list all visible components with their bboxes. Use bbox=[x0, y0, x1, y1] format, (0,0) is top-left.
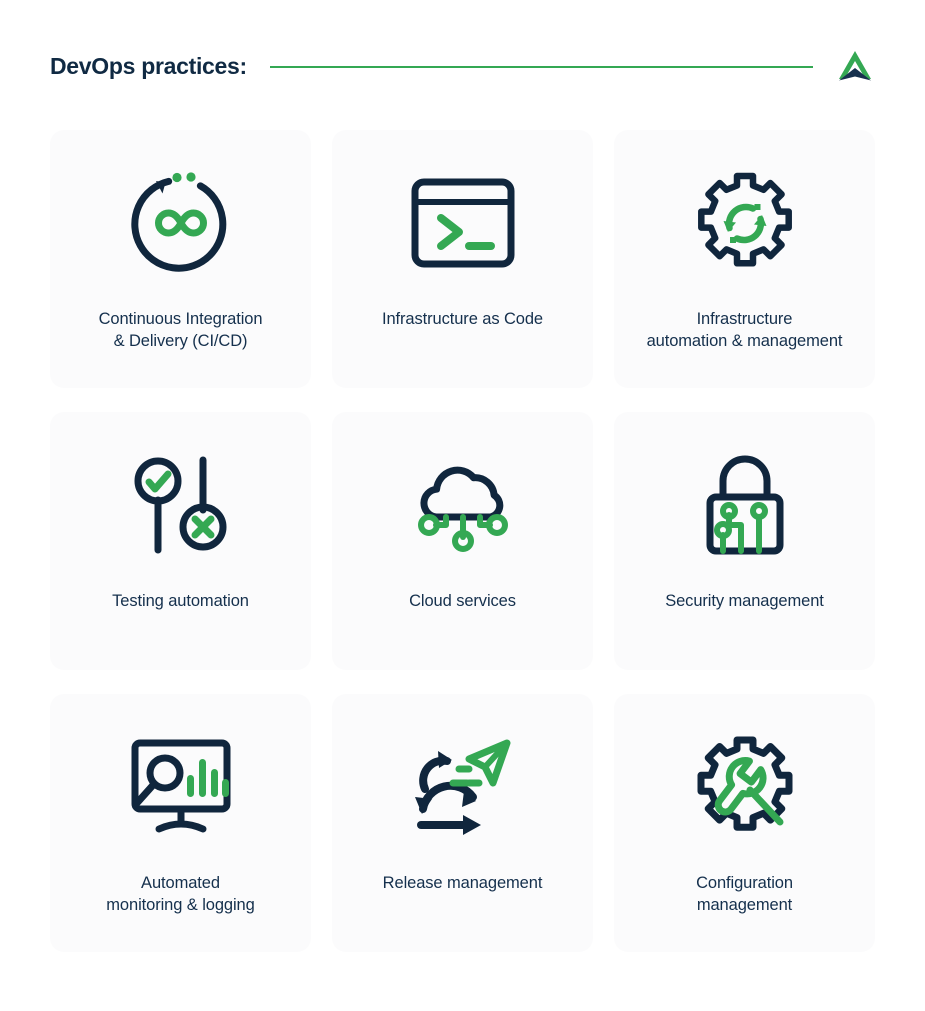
card-label: Infrastructure as Code bbox=[372, 308, 553, 330]
card-label: Release management bbox=[373, 872, 553, 894]
cloud-network-icon bbox=[332, 420, 593, 590]
card-label: Testing automation bbox=[102, 590, 259, 612]
card-label: Cloud services bbox=[399, 590, 526, 612]
card-testing-automation[interactable]: Testing automation bbox=[50, 412, 311, 670]
monitor-chart-magnifier-icon bbox=[50, 702, 311, 872]
terminal-window-icon bbox=[332, 138, 593, 308]
card-label: Security management bbox=[655, 590, 834, 612]
card-label: Continuous Integration & Delivery (CI/CD… bbox=[89, 308, 273, 352]
chevron-arrow-logo bbox=[835, 46, 875, 86]
card-label: Automated monitoring & logging bbox=[96, 872, 264, 916]
infinity-loop-refresh-icon bbox=[50, 138, 311, 308]
card-cloud-services[interactable]: Cloud services bbox=[332, 412, 593, 670]
card-configuration-management[interactable]: Configuration management bbox=[614, 694, 875, 952]
card-label: Configuration management bbox=[686, 872, 803, 916]
card-automated-monitoring[interactable]: Automated monitoring & logging bbox=[50, 694, 311, 952]
header: DevOps practices: bbox=[50, 44, 875, 88]
check-cross-sliders-icon bbox=[50, 420, 311, 590]
devops-practices-infographic: DevOps practices: bbox=[0, 0, 925, 1011]
card-label: Infrastructure automation & management bbox=[637, 308, 853, 352]
card-infrastructure-automation[interactable]: Infrastructure automation & management bbox=[614, 130, 875, 388]
gear-refresh-icon bbox=[614, 138, 875, 308]
page-title: DevOps practices: bbox=[50, 55, 247, 78]
header-divider-rule bbox=[270, 66, 813, 68]
agile-cycle-rocket-icon bbox=[332, 702, 593, 872]
card-security-management[interactable]: Security management bbox=[614, 412, 875, 670]
practices-grid: Continuous Integration & Delivery (CI/CD… bbox=[50, 130, 875, 952]
card-ci-cd[interactable]: Continuous Integration & Delivery (CI/CD… bbox=[50, 130, 311, 388]
card-release-management[interactable]: Release management bbox=[332, 694, 593, 952]
card-infrastructure-as-code[interactable]: Infrastructure as Code bbox=[332, 130, 593, 388]
padlock-circuit-icon bbox=[614, 420, 875, 590]
gear-wrench-icon bbox=[614, 702, 875, 872]
